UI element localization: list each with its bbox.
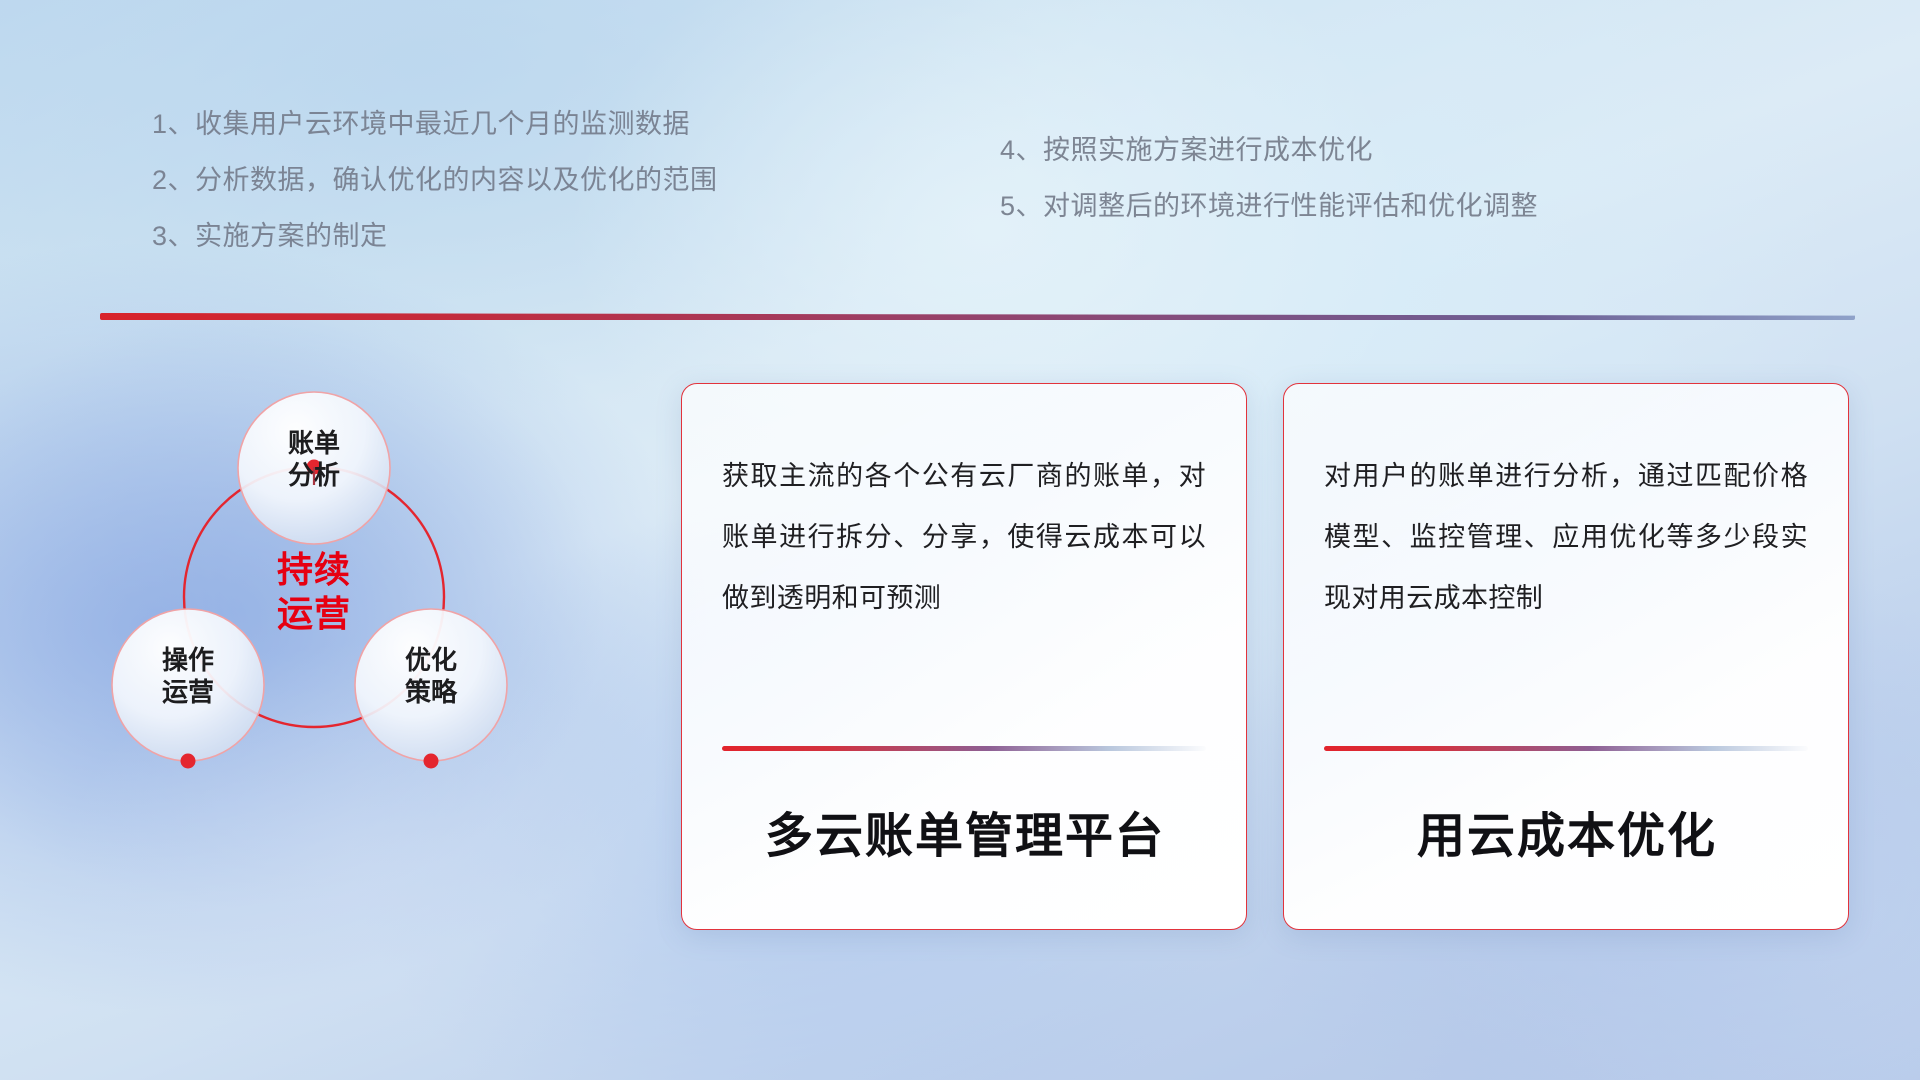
card-accent-rule [1324,746,1808,751]
venn-label-center: 持续 运营 [239,548,389,636]
bullet-item-4: 4、按照实施方案进行成本优化 [1000,122,1538,178]
venn-label-bottom-left: 操作 运营 [113,645,263,708]
venn-node-bottom-right-dot [424,754,439,769]
feature-card-multicloud-billing[interactable]: 获取主流的各个公有云厂商的账单，对账单进行拆分、分享，使得云成本可以做到透明和可… [681,383,1247,930]
venn-label-bottom-right: 优化 策略 [356,645,506,708]
card-title: 多云账单管理平台 [722,796,1208,866]
card-body-text: 获取主流的各个公有云厂商的账单，对账单进行拆分、分享，使得云成本可以做到透明和可… [722,446,1206,629]
card-title: 用云成本优化 [1324,796,1810,866]
venn-label-top: 账单 分析 [239,428,389,491]
feature-card-cloud-cost-optimization[interactable]: 对用户的账单进行分析，通过匹配价格模型、监控管理、应用优化等多少段实现对用云成本… [1283,383,1849,930]
bullet-item-2: 2、分析数据，确认优化的内容以及优化的范围 [152,152,718,208]
bullet-item-5: 5、对调整后的环境进行性能评估和优化调整 [1000,178,1538,234]
slide-canvas: 1、收集用户云环境中最近几个月的监测数据 2、分析数据，确认优化的内容以及优化的… [0,0,1920,1080]
card-accent-rule [722,746,1206,751]
card-body-text: 对用户的账单进行分析，通过匹配价格模型、监控管理、应用优化等多少段实现对用云成本… [1324,446,1808,629]
bullet-item-1: 1、收集用户云环境中最近几个月的监测数据 [152,96,718,152]
bullet-item-3: 3、实施方案的制定 [152,208,718,264]
venn-node-bottom-left-dot [181,754,196,769]
bullet-list-right: 4、按照实施方案进行成本优化 5、对调整后的环境进行性能评估和优化调整 [1000,122,1538,234]
bullet-list-left: 1、收集用户云环境中最近几个月的监测数据 2、分析数据，确认优化的内容以及优化的… [152,96,718,264]
venn-diagram: 账单 分析 操作 运营 优化 策略 持续 运营 [96,352,596,772]
